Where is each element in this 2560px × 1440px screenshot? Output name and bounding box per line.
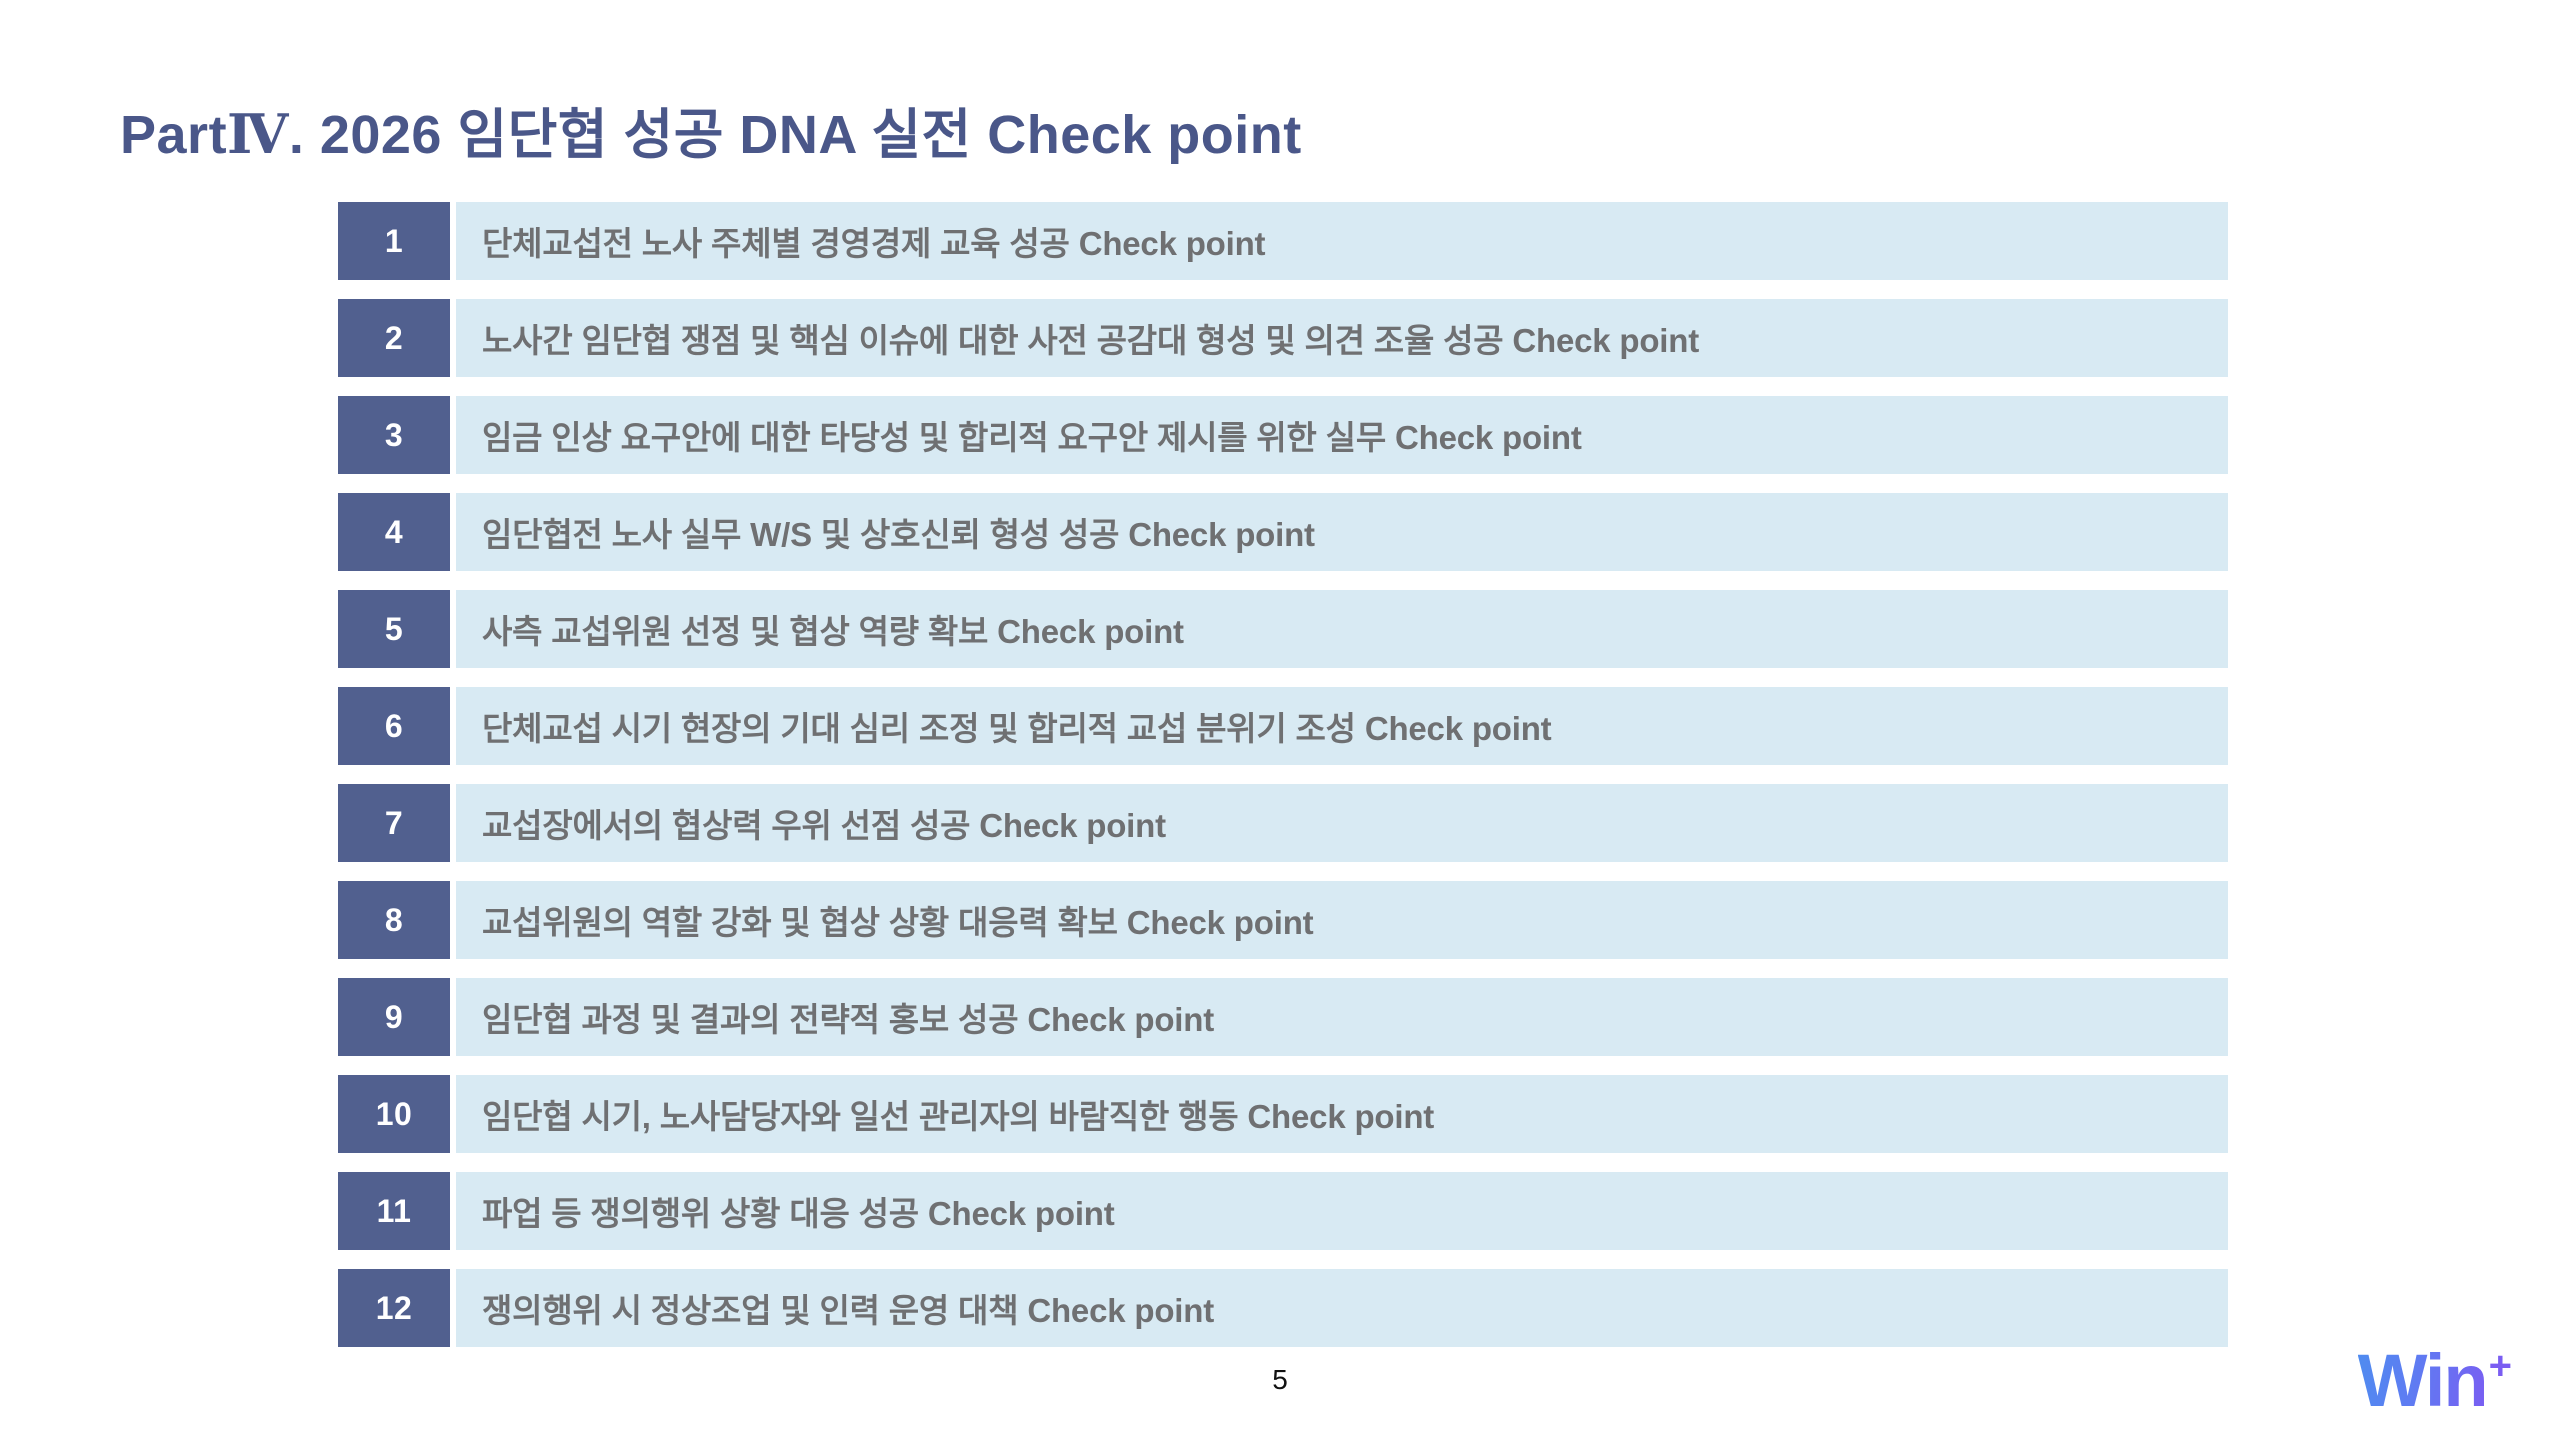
checkpoint-text-bar: 임단협 시기, 노사담당자와 일선 관리자의 바람직한 행동 Check poi…	[456, 1075, 2228, 1153]
checkpoint-row[interactable]: 2노사간 임단협 쟁점 및 핵심 이슈에 대한 사전 공감대 형성 및 의견 조…	[338, 299, 2228, 377]
checkpoint-number-badge: 3	[338, 396, 450, 474]
checkpoint-number-badge: 10	[338, 1075, 450, 1153]
checkpoint-number-badge: 12	[338, 1269, 450, 1347]
checkpoint-number-badge: 5	[338, 590, 450, 668]
checkpoint-label: 임단협 과정 및 결과의 전략적 홍보 성공 Check point	[482, 993, 1214, 1041]
checkpoint-label: 임단협전 노사 실무 W/S 및 상호신뢰 형성 성공 Check point	[482, 508, 1315, 556]
checkpoint-row[interactable]: 6단체교섭 시기 현장의 기대 심리 조정 및 합리적 교섭 분위기 조성 Ch…	[338, 687, 2228, 765]
checkpoint-number-badge: 4	[338, 493, 450, 571]
page-title-prefix: Part	[120, 105, 227, 165]
checkpoint-label: 임단협 시기, 노사담당자와 일선 관리자의 바람직한 행동 Check poi…	[482, 1090, 1434, 1138]
checkpoint-row[interactable]: 1단체교섭전 노사 주체별 경영경제 교육 성공 Check point	[338, 202, 2228, 280]
checkpoint-row[interactable]: 12쟁의행위 시 정상조업 및 인력 운영 대책 Check point	[338, 1269, 2228, 1347]
checkpoint-number-badge: 11	[338, 1172, 450, 1250]
checkpoint-label: 교섭장에서의 협상력 우위 선점 성공 Check point	[482, 799, 1166, 847]
checkpoint-text-bar: 파업 등 쟁의행위 상황 대응 성공 Check point	[456, 1172, 2228, 1250]
checkpoint-number-badge: 7	[338, 784, 450, 862]
checkpoint-row[interactable]: 3임금 인상 요구안에 대한 타당성 및 합리적 요구안 제시를 위한 실무 C…	[338, 396, 2228, 474]
checkpoint-label: 단체교섭 시기 현장의 기대 심리 조정 및 합리적 교섭 분위기 조성 Che…	[482, 702, 1551, 750]
checkpoint-row[interactable]: 11파업 등 쟁의행위 상황 대응 성공 Check point	[338, 1172, 2228, 1250]
checkpoint-label: 단체교섭전 노사 주체별 경영경제 교육 성공 Check point	[482, 217, 1265, 265]
checkpoint-label: 노사간 임단협 쟁점 및 핵심 이슈에 대한 사전 공감대 형성 및 의견 조율…	[482, 314, 1699, 362]
checkpoint-row[interactable]: 9임단협 과정 및 결과의 전략적 홍보 성공 Check point	[338, 978, 2228, 1056]
checkpoint-text-bar: 교섭장에서의 협상력 우위 선점 성공 Check point	[456, 784, 2228, 862]
checkpoint-row[interactable]: 5사측 교섭위원 선정 및 협상 역량 확보 Check point	[338, 590, 2228, 668]
checkpoint-label: 교섭위원의 역할 강화 및 협상 상황 대응력 확보 Check point	[482, 896, 1313, 944]
page-number: 5	[0, 1364, 2560, 1396]
checkpoint-number-badge: 9	[338, 978, 450, 1056]
checkpoint-text-bar: 교섭위원의 역할 강화 및 협상 상황 대응력 확보 Check point	[456, 881, 2228, 959]
checkpoint-number-badge: 6	[338, 687, 450, 765]
checkpoint-label: 파업 등 쟁의행위 상황 대응 성공 Check point	[482, 1187, 1115, 1235]
page-title-roman-numeral: Ⅳ	[227, 105, 289, 165]
checkpoint-label: 사측 교섭위원 선정 및 협상 역량 확보 Check point	[482, 605, 1184, 653]
checkpoint-row[interactable]: 7교섭장에서의 협상력 우위 선점 성공 Check point	[338, 784, 2228, 862]
checkpoint-list: 1단체교섭전 노사 주체별 경영경제 교육 성공 Check point2노사간…	[338, 202, 2228, 1366]
checkpoint-text-bar: 단체교섭전 노사 주체별 경영경제 교육 성공 Check point	[456, 202, 2228, 280]
slide-canvas: PartⅣ. 2026 임단협 성공 DNA 실전 Check point 1단…	[0, 0, 2560, 1440]
checkpoint-number-badge: 1	[338, 202, 450, 280]
checkpoint-text-bar: 사측 교섭위원 선정 및 협상 역량 확보 Check point	[456, 590, 2228, 668]
checkpoint-row[interactable]: 4임단협전 노사 실무 W/S 및 상호신뢰 형성 성공 Check point	[338, 493, 2228, 571]
brand-logo-plus-icon: +	[2489, 1346, 2512, 1386]
checkpoint-text-bar: 임단협 과정 및 결과의 전략적 홍보 성공 Check point	[456, 978, 2228, 1056]
checkpoint-label: 임금 인상 요구안에 대한 타당성 및 합리적 요구안 제시를 위한 실무 Ch…	[482, 411, 1582, 459]
checkpoint-row[interactable]: 10임단협 시기, 노사담당자와 일선 관리자의 바람직한 행동 Check p…	[338, 1075, 2228, 1153]
checkpoint-number-badge: 2	[338, 299, 450, 377]
checkpoint-text-bar: 임금 인상 요구안에 대한 타당성 및 합리적 요구안 제시를 위한 실무 Ch…	[456, 396, 2228, 474]
checkpoint-text-bar: 임단협전 노사 실무 W/S 및 상호신뢰 형성 성공 Check point	[456, 493, 2228, 571]
brand-logo: Win+	[2358, 1344, 2512, 1418]
checkpoint-row[interactable]: 8교섭위원의 역할 강화 및 협상 상황 대응력 확보 Check point	[338, 881, 2228, 959]
page-title-rest: . 2026 임단협 성공 DNA 실전 Check point	[289, 105, 1302, 165]
checkpoint-text-bar: 노사간 임단협 쟁점 및 핵심 이슈에 대한 사전 공감대 형성 및 의견 조율…	[456, 299, 2228, 377]
checkpoint-number-badge: 8	[338, 881, 450, 959]
page-title: PartⅣ. 2026 임단협 성공 DNA 실전 Check point	[120, 104, 1302, 166]
brand-logo-word: Win	[2358, 1344, 2487, 1418]
checkpoint-text-bar: 쟁의행위 시 정상조업 및 인력 운영 대책 Check point	[456, 1269, 2228, 1347]
checkpoint-label: 쟁의행위 시 정상조업 및 인력 운영 대책 Check point	[482, 1284, 1214, 1332]
checkpoint-text-bar: 단체교섭 시기 현장의 기대 심리 조정 및 합리적 교섭 분위기 조성 Che…	[456, 687, 2228, 765]
